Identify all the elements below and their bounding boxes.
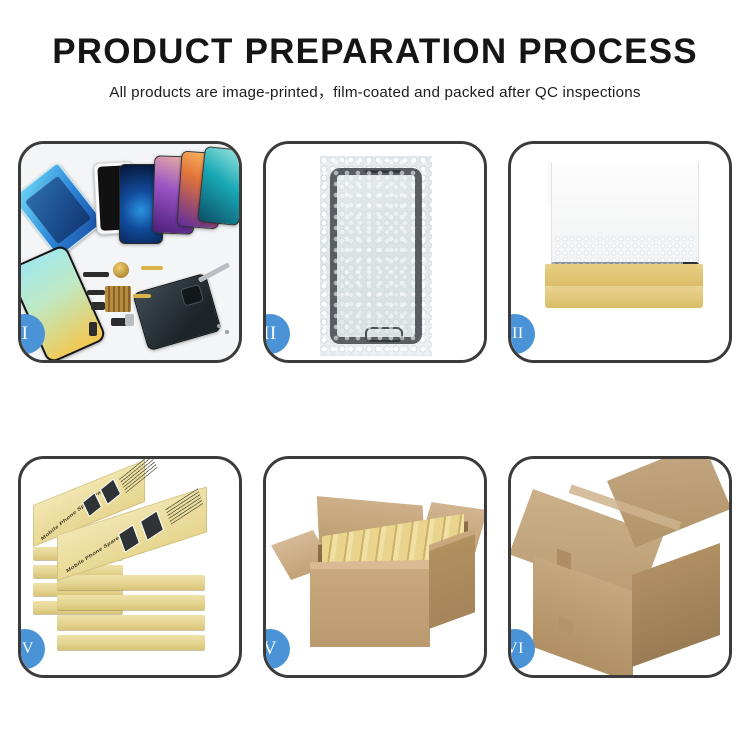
step-panel-3[interactable]: III [508,141,732,363]
step-panel-1[interactable]: I [18,141,242,363]
small-connector-graphic [87,290,105,295]
camera-module-graphic [91,302,105,310]
page-subtitle: All products are image-printed，film-coat… [0,80,750,102]
step-image-phone-parts-overview [21,144,239,360]
step-panel-4[interactable]: Mobile Phone Spare Parts Mobile Phone Sp… [18,456,242,678]
sim-tray-graphic [89,322,97,336]
process-row-bottom: Mobile Phone Spare Parts Mobile Phone Sp… [18,456,732,678]
bubble-wrap-sheet-graphic [320,156,432,356]
lid-phone-image-graphic [140,510,164,541]
screw-graphic [225,330,229,334]
metal-bracket-graphic [125,314,134,326]
screw-graphic [217,324,221,328]
step-panel-6[interactable]: VI [508,456,732,678]
stacked-box-graphic [57,635,205,650]
step-image-bubble-wrapped-screen [266,144,484,360]
step-image-open-carton-with-boxes [266,459,484,675]
earpiece-part-graphic [83,272,109,277]
step-image-sealed-carton [511,459,729,675]
lid-phone-image-graphic [100,478,121,505]
step-panel-5[interactable]: V [263,456,487,678]
process-row-top: I II [18,141,732,363]
page-title: PRODUCT PREPARATION PROCESS [0,34,750,71]
page-header: PRODUCT PREPARATION PROCESS All products… [0,0,750,102]
stacked-box-graphic [57,615,205,630]
lid-phone-image-graphic [118,524,140,553]
speaker-part-graphic [113,262,129,278]
kraft-tray-front-graphic [545,286,703,308]
step-image-screen-in-open-box [511,144,729,360]
chip-grid-graphic [105,286,131,312]
step-panel-2[interactable]: II [263,141,487,363]
flex-cable-graphic [141,266,163,270]
stacked-box-graphic [57,575,205,590]
wrapped-screen-graphic [330,168,422,344]
ribbon-cable-graphic [133,294,151,298]
stacked-box-graphic [57,595,205,610]
carton-front-face-graphic [310,569,430,647]
step-image-stacked-printed-boxes: Mobile Phone Spare Parts Mobile Phone Sp… [21,459,239,675]
process-grid: I II [0,141,750,678]
teal-screen-phone-graphic [197,146,239,226]
